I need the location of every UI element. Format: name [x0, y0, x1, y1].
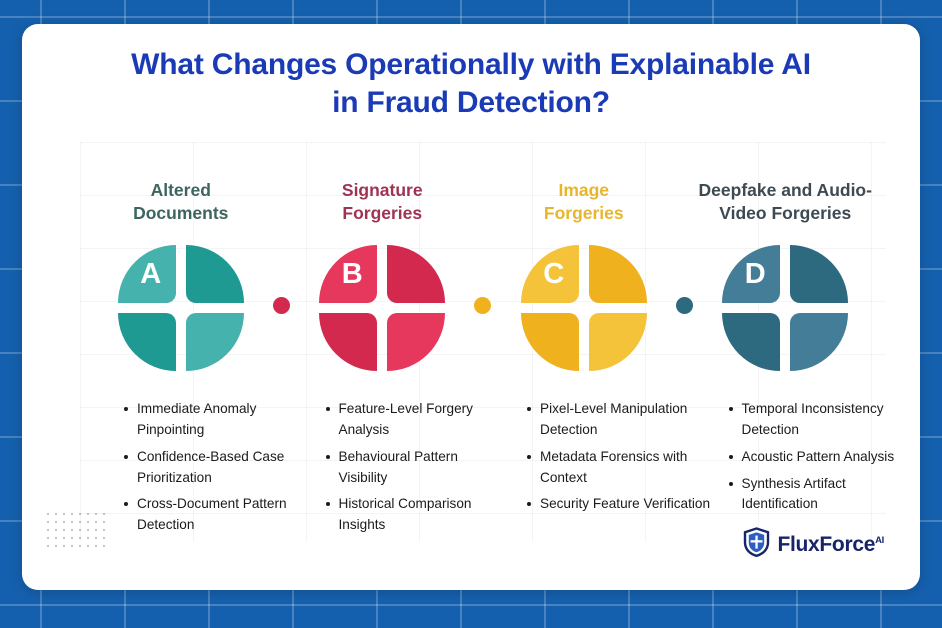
list-item: Feature-Level Forgery Analysis: [326, 399, 509, 441]
shield-cross-icon: [743, 527, 770, 562]
column-heading-line-1: Altered: [151, 180, 211, 200]
list-item: Pixel-Level Manipulation Detection: [527, 399, 710, 441]
list-item: Synthesis Artifact Identification: [729, 474, 912, 516]
quadrant-bottom-left: [521, 313, 579, 371]
column-heading: Deepfake and Audio- Video Forgeries: [693, 179, 878, 225]
page-title: What Changes Operationally with Explaina…: [22, 46, 920, 123]
quadrant-circle-d: D: [722, 245, 848, 371]
page-title-line-1: What Changes Operationally with Explaina…: [22, 46, 920, 84]
quadrant-top-right: [186, 245, 244, 303]
dot-pattern-decoration: [44, 510, 106, 550]
column-heading-line-2: Video Forgeries: [719, 203, 851, 223]
quadrant-letter: D: [736, 254, 774, 294]
logo-name: FluxForce: [777, 533, 875, 556]
column-heading-line-2: Forgeries: [544, 203, 624, 223]
quadrant-circle-b: B: [319, 245, 445, 371]
quadrant-bottom-left: [722, 313, 780, 371]
column-heading-line-1: Deepfake and Audio-: [699, 180, 872, 200]
category-columns: Altered Documents A Immediate Anomaly Pi…: [80, 179, 886, 542]
column-heading: Image Forgeries: [491, 179, 676, 225]
quadrant-bottom-right: [589, 313, 647, 371]
quadrant-bottom-left: [118, 313, 176, 371]
quadrant-bottom-right: [387, 313, 445, 371]
column-altered-documents: Altered Documents A Immediate Anomaly Pi…: [80, 179, 282, 542]
quadrant-top-right: [387, 245, 445, 303]
column-heading-line-1: Signature: [342, 180, 423, 200]
list-item: Metadata Forensics with Context: [527, 447, 710, 489]
quadrant-top-right: [790, 245, 848, 303]
quadrant-bottom-left: [319, 313, 377, 371]
bullet-list-deepfake-forgeries: Temporal Inconsistency Detection Acousti…: [699, 399, 918, 521]
quadrant-letter: A: [132, 254, 170, 294]
infographic-card: What Changes Operationally with Explaina…: [22, 24, 920, 590]
quadrant-bottom-right: [186, 313, 244, 371]
column-image-forgeries: Image Forgeries C Pixel-Level Manipulati…: [483, 179, 685, 542]
list-item: Temporal Inconsistency Detection: [729, 399, 912, 441]
column-heading-line-1: Image: [558, 180, 609, 200]
list-item: Security Feature Verification: [527, 494, 710, 515]
logo-wordmark: FluxForceAI: [777, 533, 884, 557]
logo-superscript: AI: [875, 535, 884, 546]
quadrant-circle-c: C: [521, 245, 647, 371]
column-heading: Altered Documents: [88, 179, 273, 225]
bullet-list-altered-documents: Immediate Anomaly Pinpointing Confidence…: [94, 399, 313, 542]
quadrant-letter: B: [333, 254, 371, 294]
list-item: Acoustic Pattern Analysis: [729, 447, 912, 468]
quadrant-bottom-right: [790, 313, 848, 371]
bullet-list-signature-forgeries: Feature-Level Forgery Analysis Behaviour…: [296, 399, 515, 542]
column-heading: Signature Forgeries: [290, 179, 475, 225]
list-item: Immediate Anomaly Pinpointing: [124, 399, 307, 441]
list-item: Confidence-Based Case Prioritization: [124, 447, 307, 489]
quadrant-top-right: [589, 245, 647, 303]
page-title-line-2: in Fraud Detection?: [22, 84, 920, 122]
column-heading-line-2: Forgeries: [342, 203, 422, 223]
column-deepfake-audio-video-forgeries: Deepfake and Audio- Video Forgeries D Te…: [685, 179, 887, 542]
column-heading-line-2: Documents: [133, 203, 228, 223]
bullet-list-image-forgeries: Pixel-Level Manipulation Detection Metad…: [497, 399, 716, 521]
list-item: Cross-Document Pattern Detection: [124, 494, 307, 536]
quadrant-circle-a: A: [118, 245, 244, 371]
list-item: Behavioural Pattern Visibility: [326, 447, 509, 489]
list-item: Historical Comparison Insights: [326, 494, 509, 536]
fluxforce-logo: FluxForceAI: [743, 527, 884, 562]
quadrant-letter: C: [535, 254, 573, 294]
column-signature-forgeries: Signature Forgeries B Feature-Level Forg…: [282, 179, 484, 542]
